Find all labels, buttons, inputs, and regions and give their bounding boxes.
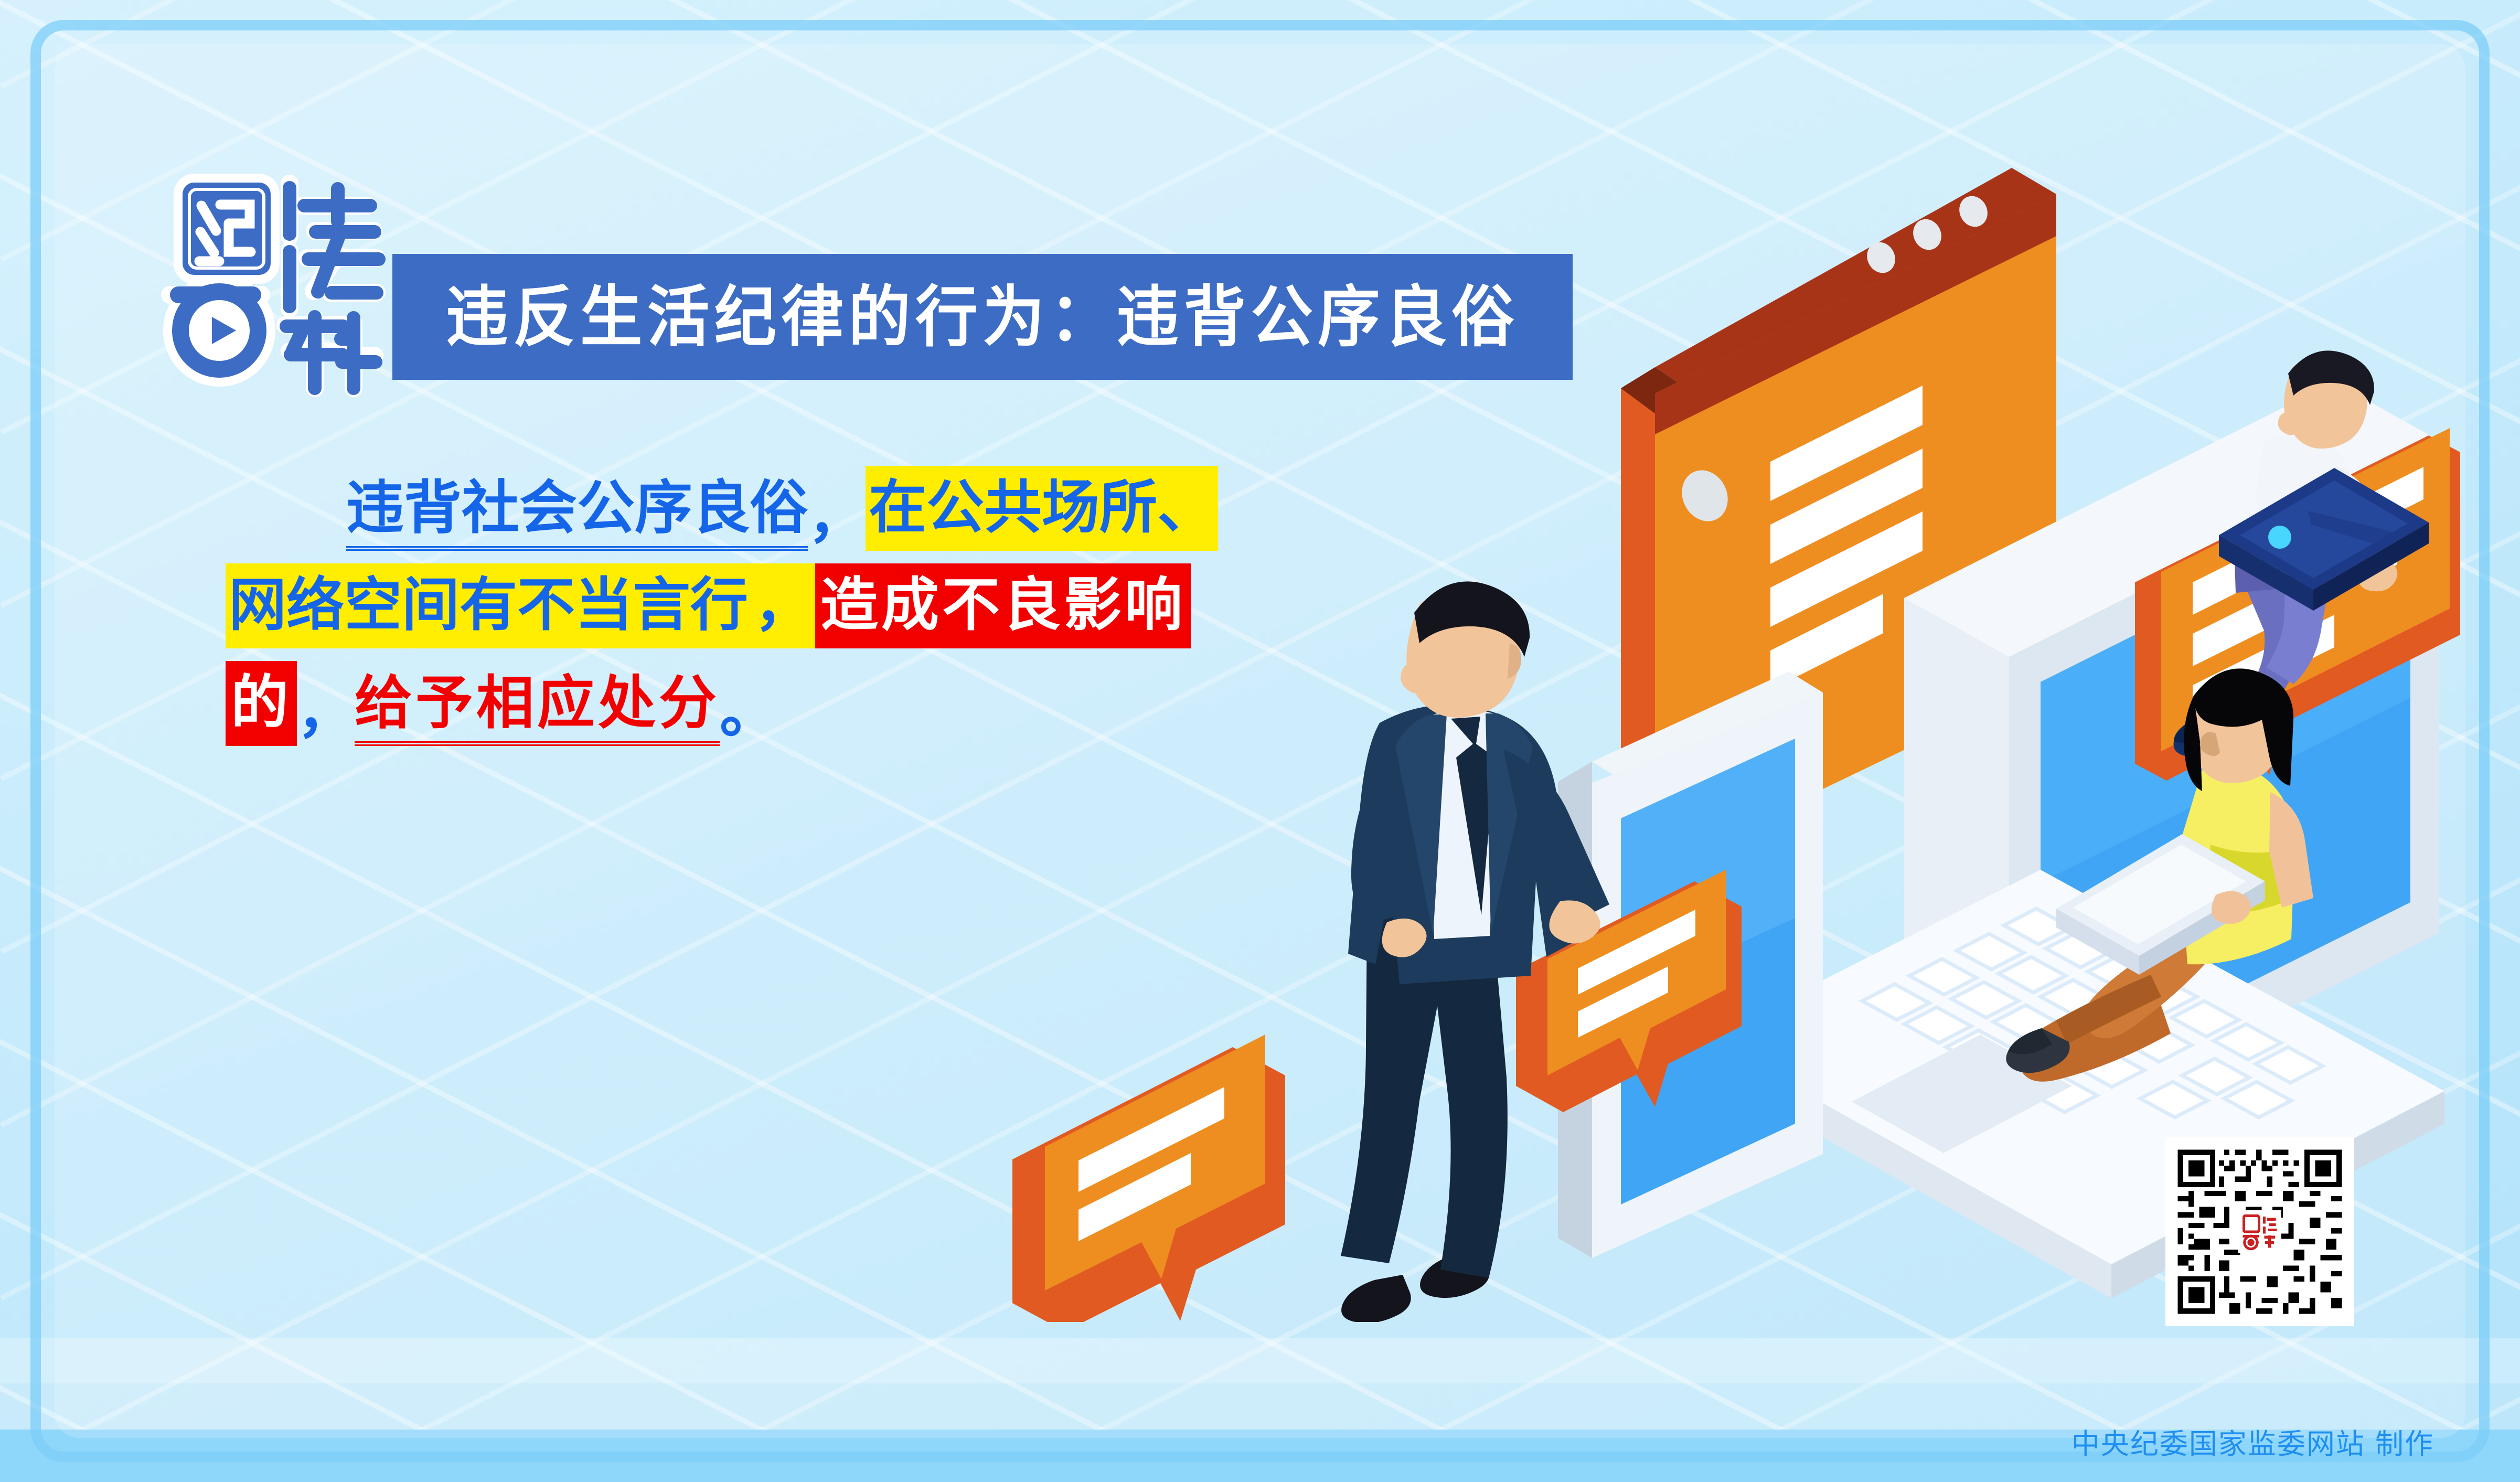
chat-bubble-left — [1012, 1035, 1285, 1322]
body-segment-highlight: 网络空间有不当言行 — [226, 563, 751, 648]
body-segment-emphasis: 的 — [226, 661, 297, 746]
body-punctuation: 。 — [720, 678, 777, 746]
body-punctuation: ， — [808, 483, 866, 551]
body-segment-red: 给予相应处分 — [355, 669, 720, 746]
poster-root: 违反生活纪律的行为：违背公序良俗 违背社会公序良俗 ， 在公共场所、 网络空间有… — [0, 0, 2520, 1482]
brand-logo — [157, 173, 388, 399]
body-segment: 违背社会公序良俗 — [346, 474, 808, 551]
body-punctuation: ， — [297, 678, 355, 746]
body-punctuation: ， — [751, 563, 815, 648]
qr-code[interactable] — [2165, 1137, 2354, 1326]
footer-credit: 中央纪委国家监委网站 制作 — [2071, 1421, 2434, 1462]
